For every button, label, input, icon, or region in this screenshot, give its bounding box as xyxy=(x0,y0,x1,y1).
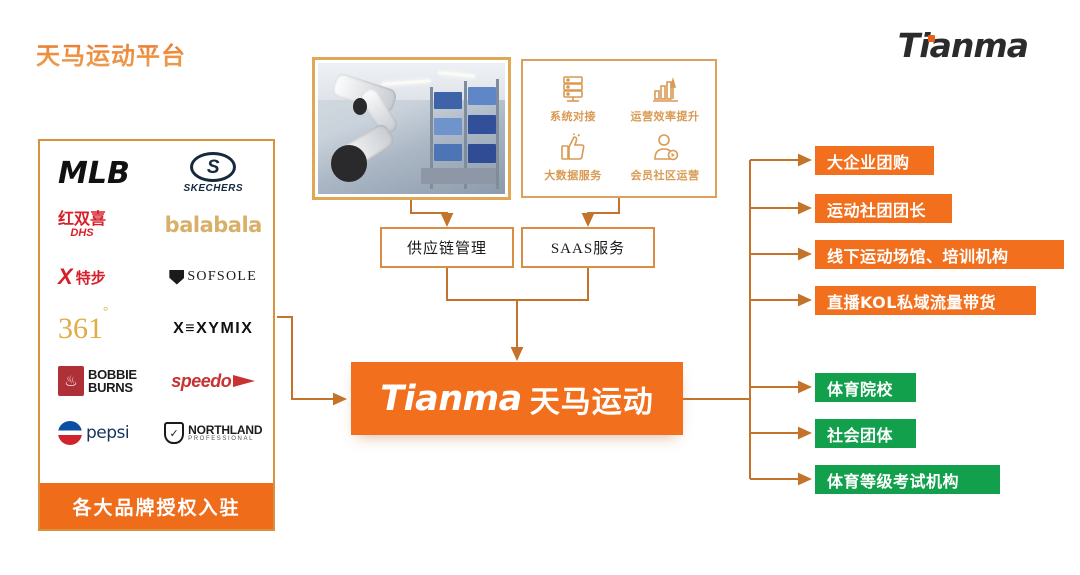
pepsi-wordmark: pepsi xyxy=(86,423,129,443)
supply-chain-box[interactable]: 供应链管理 xyxy=(380,227,514,268)
brand-row: MLB S SKECHERS xyxy=(48,147,265,199)
xexymix-logo: X≡XYMIX xyxy=(173,320,253,338)
northland-shield-icon: ✓ xyxy=(164,422,184,444)
member-person-icon xyxy=(649,133,681,163)
page-title: 天马运动平台 xyxy=(36,36,186,71)
tianma-sports-hero: Tianma 天马运动 xyxy=(351,362,683,435)
channel-chip-sports-colleges[interactable]: 体育院校 xyxy=(815,373,916,402)
bobbie-wordmark: BOBBIE BURNS xyxy=(88,368,137,395)
channel-chip-sports-grading-exam-org[interactable]: 体育等级考试机构 xyxy=(815,465,1000,494)
sofsole-shield-icon xyxy=(169,270,184,285)
slide-canvas: 天马运动平台 Tianma MLB S SKECHERS xyxy=(0,0,1080,575)
brand-cell-speedo: speedo xyxy=(162,355,266,407)
skechers-wordmark: SKECHERS xyxy=(183,184,243,194)
361-label: 361 xyxy=(58,312,103,345)
server-rack-icon xyxy=(557,74,589,104)
brand-row: ♨ BOBBIE BURNS speedo xyxy=(48,355,265,407)
361-degree-icon: ° xyxy=(103,303,108,318)
photo-floor xyxy=(421,168,496,184)
pepsi-logo: pepsi xyxy=(58,421,129,445)
saas-feature-label: 系统对接 xyxy=(550,108,596,124)
saas-feature-label: 会员社区运营 xyxy=(631,167,700,183)
speedo-wordmark: speedo xyxy=(171,371,231,392)
dhs-label-en: DHS xyxy=(70,228,93,240)
sofsole-wordmark: SOFSOLE xyxy=(187,269,257,285)
brand-cell-361: 361° xyxy=(48,303,162,355)
brand-panel: MLB S SKECHERS 红双喜 DHS balaba xyxy=(38,139,275,531)
northland-wordmark: NORTHLAND PROFESSIONAL xyxy=(188,424,262,443)
brand-cell-sofsole: SOFSOLE xyxy=(162,251,266,303)
northland-line2: PROFESSIONAL xyxy=(188,436,262,442)
saas-feature-member-community: 会员社区运营 xyxy=(619,129,711,189)
photo-bin xyxy=(468,87,496,105)
brand-cell-skechers: S SKECHERS xyxy=(162,147,266,199)
brand-cell-northland: ✓ NORTHLAND PROFESSIONAL xyxy=(162,407,266,459)
bobbie-line1: BOBBIE xyxy=(88,368,137,381)
photo-shelf xyxy=(496,79,499,189)
hero-label-cn: 天马运动 xyxy=(530,377,654,421)
photo-bin xyxy=(468,144,496,162)
saas-feature-box: 系统对接 运营效率提升 大数据服务 xyxy=(521,59,717,198)
skechers-s-icon: S xyxy=(190,152,236,182)
robot-joint xyxy=(331,145,367,182)
tianma-logo-text: Tianma xyxy=(898,26,1028,65)
saas-feature-label: 运营效率提升 xyxy=(631,108,700,124)
photo-bin xyxy=(434,118,462,135)
brand-cell-xexymix: X≡XYMIX xyxy=(162,303,266,355)
saas-feature-label: 大数据服务 xyxy=(544,167,602,183)
brand-logo-grid: MLB S SKECHERS 红双喜 DHS balaba xyxy=(40,141,273,483)
saas-feature-bigdata: 大数据服务 xyxy=(527,129,619,189)
northland-line1: NORTHLAND xyxy=(188,424,262,437)
bobbie-line2: BURNS xyxy=(88,381,137,394)
dhs-label-cn: 红双喜 xyxy=(58,211,106,228)
channel-chip-offline-venues-training[interactable]: 线下运动场馆、培训机构 xyxy=(815,240,1064,269)
brand-cell-xtep: X 特步 xyxy=(48,251,162,303)
bar-chart-growth-icon xyxy=(649,74,681,104)
brand-cell-bobbie-burns: ♨ BOBBIE BURNS xyxy=(48,355,162,407)
logo-dot-icon xyxy=(928,35,935,42)
photo-bin xyxy=(434,144,462,161)
robot-joint xyxy=(353,98,367,115)
xtep-logo: X 特步 xyxy=(58,264,106,290)
saas-service-box[interactable]: SAAS服务 xyxy=(521,227,655,268)
xtep-x-icon: X xyxy=(58,264,73,290)
channel-chip-enterprise-group-buy[interactable]: 大企业团购 xyxy=(815,146,934,175)
361-logo: 361° xyxy=(58,312,108,346)
brand-row: pepsi ✓ NORTHLAND PROFESSIONAL xyxy=(48,407,265,459)
warehouse-photo xyxy=(312,57,511,200)
thumbs-up-icon xyxy=(557,133,589,163)
photo-robot-arm xyxy=(329,79,419,186)
photo-bin xyxy=(434,92,462,109)
speedo-logo: speedo xyxy=(171,371,255,392)
brand-row: X 特步 SOFSOLE xyxy=(48,251,265,303)
brand-row: 红双喜 DHS balabala xyxy=(48,199,265,251)
tianma-logo: Tianma xyxy=(898,26,1028,65)
speedo-arrow-icon xyxy=(233,375,255,387)
brand-cell-mlb: MLB xyxy=(48,147,162,199)
brand-cell-dhs: 红双喜 DHS xyxy=(48,199,162,251)
saas-feature-efficiency: 运营效率提升 xyxy=(619,69,711,129)
hero-label-en: Tianma xyxy=(380,379,522,419)
brand-cell-balabala: balabala xyxy=(162,199,266,251)
channel-chip-social-groups[interactable]: 社会团体 xyxy=(815,419,916,448)
skechers-logo: S SKECHERS xyxy=(183,152,243,194)
northland-logo: ✓ NORTHLAND PROFESSIONAL xyxy=(164,422,262,444)
dhs-logo: 红双喜 DHS xyxy=(58,211,106,239)
balabala-logo: balabala xyxy=(165,213,262,237)
bobbie-burns-logo: ♨ BOBBIE BURNS xyxy=(58,366,137,396)
warehouse-photo-image xyxy=(318,63,505,194)
pepsi-globe-icon xyxy=(58,421,82,445)
mlb-logo: MLB xyxy=(58,156,130,191)
sofsole-logo: SOFSOLE xyxy=(169,269,257,285)
xtep-label-cn: 特步 xyxy=(76,267,106,288)
photo-bin xyxy=(468,115,496,133)
brand-cell-pepsi: pepsi xyxy=(48,407,162,459)
brand-row: 361° X≡XYMIX xyxy=(48,303,265,355)
brand-panel-footer: 各大品牌授权入驻 xyxy=(40,483,273,529)
channel-chip-sports-club-leader[interactable]: 运动社团团长 xyxy=(815,194,952,223)
channel-chip-live-kol-private-traffic[interactable]: 直播KOL私域流量带货 xyxy=(815,286,1036,315)
bobbie-flame-icon: ♨ xyxy=(58,366,84,396)
saas-feature-system-docking: 系统对接 xyxy=(527,69,619,129)
